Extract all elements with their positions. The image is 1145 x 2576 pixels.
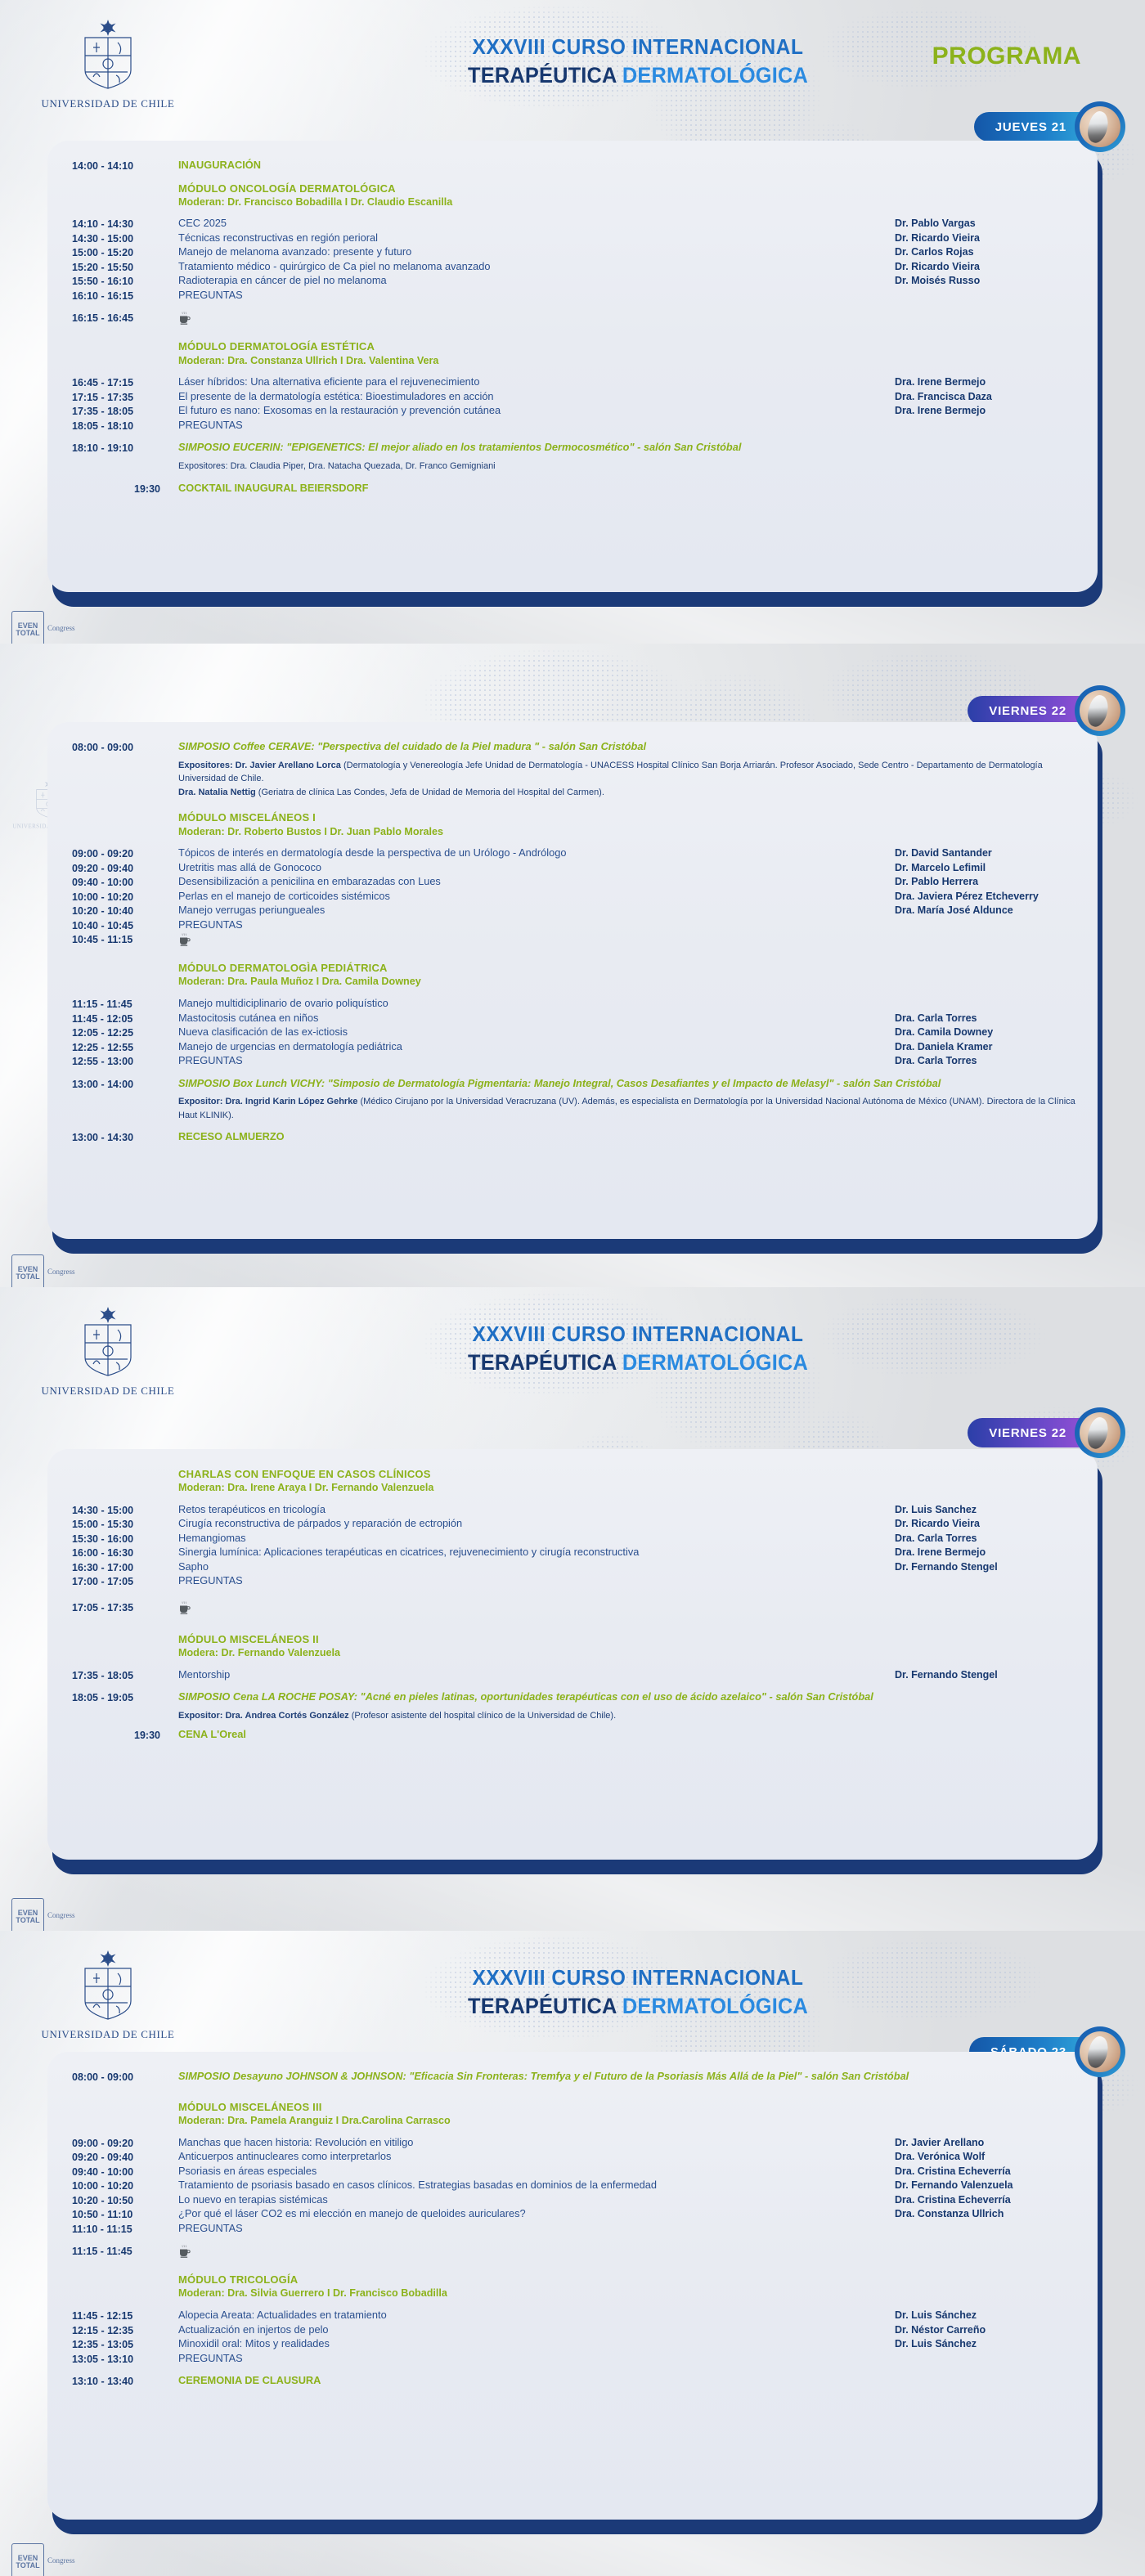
schedule-row: 19:30 COCKTAIL INAUGURAL BEIERSDORF: [72, 482, 1076, 496]
row-body: Sinergia lumínica: Aplicaciones terapéut…: [168, 1546, 888, 1560]
row-time: 10:00 - 10:20: [72, 890, 168, 904]
row-body: Hemangiomas: [168, 1532, 888, 1546]
talk-title: Uretritis mas allá de Gonococo: [178, 861, 888, 875]
row-time: [72, 1632, 168, 1633]
schedule-row: 14:10 - 14:30 CEC 2025 Dr. Pablo Vargas: [72, 217, 1076, 231]
row-time: 15:00 - 15:20: [72, 245, 168, 260]
talk-speaker: Dra. Cristina Echeverría: [888, 2193, 1076, 2207]
eventotal-logo-text: EVEN TOTAL: [12, 2555, 43, 2570]
row-time: 11:15 - 11:45: [72, 997, 168, 1012]
row-body: Manejo multidiciplinario de ovario poliq…: [168, 997, 888, 1011]
row-time: 19:30: [72, 1728, 168, 1743]
row-time: 14:10 - 14:30: [72, 217, 168, 231]
row-time: 13:10 - 13:40: [72, 2374, 168, 2389]
schedule-row: 17:35 - 18:05 Mentorship Dr. Fernando St…: [72, 1668, 1076, 1683]
course-title-dark: TERAPÉUTICA: [468, 1350, 617, 1375]
row-spacer: [72, 2261, 1076, 2273]
row-time: 17:00 - 17:05: [72, 1574, 168, 1589]
program-document: Universidad de Chile XXXVIII CURSO INTER…: [0, 0, 1145, 2576]
symposium-title: SIMPOSIO Cena LA ROCHE POSAY: "Acné en p…: [178, 1690, 1076, 1704]
schedule-row: 15:20 - 15:50 Tratamiento médico - quirú…: [72, 260, 1076, 275]
talk-speaker: Dra. Camila Downey: [888, 1025, 1076, 1039]
row-spacer: [72, 303, 1076, 311]
talk-title: Hemangiomas: [178, 1532, 888, 1546]
schedule-row: MÓDULO MISCELÁNEOS II Modera: Dr. Fernan…: [72, 1632, 1076, 1660]
talk-speaker: Dra. Irene Bermejo: [888, 1546, 1076, 1560]
row-highlight-title: COCKTAIL INAUGURAL BEIERSDORF: [178, 482, 1076, 496]
row-time: 11:45 - 12:05: [72, 1012, 168, 1026]
course-title-dark: TERAPÉUTICA: [468, 63, 617, 88]
talk-speaker: Dra. Carla Torres: [888, 1012, 1076, 1025]
schedule-row: 13:10 - 13:40 CEREMONIA DE CLAUSURA: [72, 2374, 1076, 2389]
row-spacer: [72, 1660, 1076, 1668]
course-title-line2: TERAPÉUTICA DERMATOLÓGICA: [423, 1350, 853, 1376]
row-time: 12:55 - 13:00: [72, 1054, 168, 1069]
row-spacer: [72, 1122, 1076, 1130]
row-spacer: [72, 1495, 1076, 1503]
schedule-row: 14:00 - 14:10 INAUGURACIÓN: [72, 159, 1076, 173]
shield-icon: [77, 18, 139, 93]
row-time: 15:30 - 16:00: [72, 1532, 168, 1546]
course-title-line1: XXXVIII CURSO INTERNACIONAL: [423, 1322, 853, 1347]
university-name: Universidad de Chile: [26, 2028, 190, 2041]
symposium-details: Expositores: Dra. Claudia Piper, Dra. Na…: [178, 460, 1076, 473]
symposium-title: SIMPOSIO EUCERIN: "EPIGENETICS: El mejor…: [178, 441, 1076, 455]
row-spacer: [72, 1682, 1076, 1690]
talk-title: Lo nuevo en terapias sistémicas: [178, 2193, 888, 2207]
schedule-row: CHARLAS CON ENFOQUE EN CASOS CLÍNICOS Mo…: [72, 1467, 1076, 1495]
row-body: RECESO ALMUERZO: [168, 1130, 1076, 1144]
schedule-row: 11:45 - 12:15 Alopecia Areata: Actualida…: [72, 2309, 1076, 2323]
schedule-row: 10:45 - 11:15: [72, 932, 1076, 949]
symposium-details: Expositor: Dra. Andrea Cortés González (…: [178, 1709, 1076, 1723]
row-spacer: [72, 2236, 1076, 2244]
eventotal-congress-logo: EVEN TOTAL Congress: [11, 1898, 90, 1919]
course-title-light: DERMATOLÓGICA: [622, 63, 808, 88]
talk-speaker: Dr. Ricardo Vieira: [888, 260, 1076, 274]
schedule-row: 15:00 - 15:30 Cirugía reconstructiva de …: [72, 1517, 1076, 1532]
talk-title: Minoxidil oral: Mitos y realidades: [178, 2337, 888, 2351]
schedule-rows: 08:00 - 09:00 SIMPOSIO Coffee CERAVE: "P…: [72, 740, 1076, 1145]
talk-speaker: Dr. Marcelo Lefimil: [888, 861, 1076, 875]
talk-speaker: Dr. Moisés Russo: [888, 274, 1076, 288]
symposium-title: SIMPOSIO Box Lunch VICHY: "Simposio de D…: [178, 1077, 1076, 1091]
schedule-row: 10:40 - 10:45 PREGUNTAS: [72, 918, 1076, 933]
course-title-line1: XXXVIII CURSO INTERNACIONAL: [423, 34, 853, 60]
module-name: MÓDULO TRICOLOGÍA: [178, 2273, 1076, 2287]
university-crest: Universidad de Chile: [26, 18, 190, 110]
schedule-row: 09:20 - 09:40 Uretritis mas allá de Gono…: [72, 861, 1076, 876]
row-time: [72, 961, 168, 962]
row-body: Psoriasis en áreas especiales: [168, 2165, 888, 2179]
row-body: El futuro es nano: Exosomas en la restau…: [168, 404, 888, 418]
row-coffee-break: [168, 2244, 1076, 2261]
row-body: Técnicas reconstructivas en región perio…: [168, 231, 888, 245]
talk-title: Tratamiento de psoriasis basado en casos…: [178, 2179, 888, 2192]
module-moderators: Moderan: Dra. Constanza Ullrich I Dra. V…: [178, 354, 1076, 368]
eventotal-logo-box: EVEN TOTAL: [11, 1254, 44, 1287]
row-body: CENA L'Oreal: [168, 1728, 1076, 1742]
coffee-cup-icon: [178, 933, 191, 947]
row-highlight-title: RECESO ALMUERZO: [178, 1130, 1076, 1144]
row-body: Mastocitosis cutánea en niños: [168, 1012, 888, 1025]
talk-speaker: Dr. Luis Sánchez: [888, 2309, 1076, 2322]
talk-title: ¿Por qué el láser CO2 es mi elección en …: [178, 2207, 888, 2221]
row-body: Manejo verrugas periungueales: [168, 904, 888, 918]
row-time: 09:00 - 09:20: [72, 2136, 168, 2151]
module-moderators: Modera: Dr. Fernando Valenzuela: [178, 1646, 1076, 1660]
module-name: MÓDULO MISCELÁNEOS II: [178, 1632, 1076, 1646]
course-title-line2: TERAPÉUTICA DERMATOLÓGICA: [423, 63, 853, 88]
row-time: 12:25 - 12:55: [72, 1040, 168, 1055]
talk-speaker: Dr. Pablo Vargas: [888, 217, 1076, 231]
schedule-row: 17:00 - 17:05 PREGUNTAS: [72, 1574, 1076, 1589]
day-photo-bubble: [1075, 101, 1125, 152]
program-page-1: Universidad de Chile XXXVIII CURSO INTER…: [0, 0, 1145, 644]
row-time: 10:50 - 11:10: [72, 2207, 168, 2222]
module-name: MÓDULO ONCOLOGÍA DERMATOLÓGICA: [178, 182, 1076, 195]
module-block: MÓDULO TRICOLOGÍA Moderan: Dra. Silvia G…: [168, 2273, 1076, 2300]
row-spacer: [72, 2089, 1076, 2100]
row-body: Minoxidil oral: Mitos y realidades: [168, 2337, 888, 2351]
schedule-row: 11:45 - 12:05 Mastocitosis cutánea en ni…: [72, 1012, 1076, 1026]
schedule-row: 15:50 - 16:10 Radioterapia en cáncer de …: [72, 274, 1076, 289]
row-body: Manejo de urgencias en dermatología pedi…: [168, 1040, 888, 1054]
schedule-row: 10:50 - 11:10 ¿Por qué el láser CO2 es m…: [72, 2207, 1076, 2222]
schedule-row: 12:35 - 13:05 Minoxidil oral: Mitos y re…: [72, 2337, 1076, 2352]
talk-title: Perlas en el manejo de corticoides sisté…: [178, 890, 888, 904]
module-moderators: Moderan: Dra. Pamela Aranguiz I Dra.Caro…: [178, 2114, 1076, 2128]
talk-title: PREGUNTAS: [178, 918, 888, 932]
row-body: Lo nuevo en terapias sistémicas: [168, 2193, 888, 2207]
eventotal-congress-logo: EVEN TOTAL Congress: [11, 611, 90, 632]
row-spacer: [72, 1589, 1076, 1600]
schedule-card: 08:00 - 09:00 SIMPOSIO Coffee CERAVE: "P…: [47, 722, 1098, 1239]
row-time: 14:30 - 15:00: [72, 231, 168, 246]
symposium-block: SIMPOSIO EUCERIN: "EPIGENETICS: El mejor…: [168, 441, 1076, 473]
schedule-row: 11:10 - 11:15 PREGUNTAS: [72, 2222, 1076, 2237]
row-spacer: [72, 949, 1076, 961]
symposium-title: SIMPOSIO Coffee CERAVE: "Perspectiva del…: [178, 740, 1076, 754]
row-time: 18:05 - 18:10: [72, 419, 168, 433]
module-moderators: Moderan: Dra. Paula Muñoz I Dra. Camila …: [178, 975, 1076, 989]
row-spacer: [72, 989, 1076, 997]
talk-speaker: Dra. Cristina Echeverría: [888, 2165, 1076, 2179]
row-body: Radioterapia en cáncer de piel no melano…: [168, 274, 888, 288]
talk-title: Mentorship: [178, 1668, 888, 1682]
congress-logo-text: Congress: [47, 1268, 90, 1276]
course-title-block: XXXVIII CURSO INTERNACIONAL TERAPÉUTICA …: [409, 34, 867, 88]
row-highlight-title: CENA L'Oreal: [178, 1728, 1076, 1742]
module-moderators: Moderan: Dr. Francisco Bobadilla I Dr. C…: [178, 195, 1076, 209]
row-time: 11:45 - 12:15: [72, 2309, 168, 2323]
module-block: MÓDULO DERMATOLOGÌA PEDIÁTRICA Moderan: …: [168, 961, 1076, 989]
row-time: [72, 2100, 168, 2101]
schedule-card: CHARLAS CON ENFOQUE EN CASOS CLÍNICOS Mo…: [47, 1449, 1098, 1860]
row-spacer: [72, 2300, 1076, 2309]
talk-title: PREGUNTAS: [178, 2222, 888, 2236]
row-spacer: [72, 799, 1076, 810]
eventotal-logo-box: EVEN TOTAL: [11, 2543, 44, 2576]
row-time: 16:10 - 16:15: [72, 289, 168, 303]
row-time: [72, 339, 168, 340]
schedule-row: 09:00 - 09:20 Tópicos de interés en derm…: [72, 846, 1076, 861]
talk-title: Cirugía reconstructiva de párpados y rep…: [178, 1517, 888, 1531]
talk-title: Manejo de melanoma avanzado: presente y …: [178, 245, 888, 259]
symposium-details: Expositores: Dr. Javier Arellano Lorca (…: [178, 759, 1076, 800]
row-time: 17:35 - 18:05: [72, 404, 168, 419]
talk-title: Láser híbridos: Una alternativa eficient…: [178, 375, 888, 389]
row-spacer: [72, 367, 1076, 375]
schedule-row: 09:00 - 09:20 Manchas que hacen historia…: [72, 2136, 1076, 2151]
shield-icon: [77, 1305, 139, 1380]
module-block: MÓDULO MISCELÁNEOS II Modera: Dr. Fernan…: [168, 1632, 1076, 1660]
schedule-row: 12:05 - 12:25 Nueva clasificación de las…: [72, 1025, 1076, 1040]
talk-speaker: Dr. Javier Arellano: [888, 2136, 1076, 2150]
row-time: 16:30 - 17:00: [72, 1560, 168, 1575]
row-spacer: [72, 2366, 1076, 2374]
row-time: 09:40 - 10:00: [72, 2165, 168, 2179]
row-time: 09:20 - 09:40: [72, 2150, 168, 2165]
row-spacer: [72, 433, 1076, 441]
row-body: CEREMONIA DE CLAUSURA: [168, 2374, 1076, 2388]
row-time: 10:45 - 11:15: [72, 932, 168, 947]
row-time: 08:00 - 09:00: [72, 740, 168, 755]
talk-speaker: Dra. Francisca Daza: [888, 390, 1076, 404]
talk-speaker: Dra. Irene Bermejo: [888, 404, 1076, 418]
schedule-row: 18:05 - 19:05 SIMPOSIO Cena LA ROCHE POS…: [72, 1690, 1076, 1722]
eventotal-congress-logo: EVEN TOTAL Congress: [11, 1254, 90, 1276]
talk-title: Psoriasis en áreas especiales: [178, 2165, 888, 2179]
row-body: El presente de la dermatología estética:…: [168, 390, 888, 404]
schedule-row: 13:05 - 13:10 PREGUNTAS: [72, 2352, 1076, 2367]
eventotal-logo-text: EVEN TOTAL: [12, 1266, 43, 1281]
row-body: Alopecia Areata: Actualidades en tratami…: [168, 2309, 888, 2322]
schedule-row: MÓDULO MISCELÁNEOS I Moderan: Dr. Robert…: [72, 810, 1076, 838]
schedule-row: MÓDULO ONCOLOGÍA DERMATOLÓGICA Moderan: …: [72, 182, 1076, 209]
eventotal-logo-text: EVEN TOTAL: [12, 1910, 43, 1925]
course-title-light: DERMATOLÓGICA: [622, 1994, 808, 2018]
talk-speaker: Dr. Luis Sanchez: [888, 1503, 1076, 1517]
symposium-block: SIMPOSIO Desayuno JOHNSON & JOHNSON: "Ef…: [168, 2070, 1076, 2089]
talk-title: Manejo verrugas periungueales: [178, 904, 888, 918]
row-body: Anticuerpos antinucleares como interpret…: [168, 2150, 888, 2164]
row-time: 13:05 - 13:10: [72, 2352, 168, 2367]
talk-title: PREGUNTAS: [178, 1054, 888, 1068]
schedule-row: 11:15 - 11:45 Manejo multidiciplinario d…: [72, 997, 1076, 1012]
schedule-row: 18:10 - 19:10 SIMPOSIO EUCERIN: "EPIGENE…: [72, 441, 1076, 473]
coffee-cup-icon: [178, 2245, 191, 2259]
course-title-line1: XXXVIII CURSO INTERNACIONAL: [423, 1965, 853, 1990]
row-time: [72, 2273, 168, 2273]
course-title-dark: TERAPÉUTICA: [468, 1994, 617, 2018]
row-body: Manejo de melanoma avanzado: presente y …: [168, 245, 888, 259]
row-body: Desensibilización a penicilina en embara…: [168, 875, 888, 889]
shield-icon: [77, 1949, 139, 2024]
schedule-rows: 08:00 - 09:00 SIMPOSIO Desayuno JOHNSON …: [72, 2070, 1076, 2389]
schedule-row: 10:20 - 10:40 Manejo verrugas periunguea…: [72, 904, 1076, 918]
talk-speaker: Dr. Ricardo Vieira: [888, 231, 1076, 245]
row-coffee-break: [168, 1600, 1076, 1618]
row-body: PREGUNTAS: [168, 419, 888, 433]
schedule-row: 10:00 - 10:20 Tratamiento de psoriasis b…: [72, 2179, 1076, 2193]
row-spacer: [72, 173, 1076, 182]
schedule-row: 12:15 - 12:35 Actualización en injertos …: [72, 2323, 1076, 2338]
module-block: MÓDULO MISCELÁNEOS III Moderan: Dra. Pam…: [168, 2100, 1076, 2128]
talk-title: Sinergia lumínica: Aplicaciones terapéut…: [178, 1546, 888, 1560]
talk-speaker: Dr. Carlos Rojas: [888, 245, 1076, 259]
row-time: [72, 810, 168, 811]
row-body: Perlas en el manejo de corticoides sisté…: [168, 890, 888, 904]
row-time: 12:15 - 12:35: [72, 2323, 168, 2338]
row-body: Cirugía reconstructiva de párpados y rep…: [168, 1517, 888, 1531]
schedule-row: 08:00 - 09:00 SIMPOSIO Desayuno JOHNSON …: [72, 2070, 1076, 2089]
coffee-cup-icon: [178, 312, 191, 325]
row-time: 14:00 - 14:10: [72, 159, 168, 173]
schedule-row: 15:00 - 15:20 Manejo de melanoma avanzad…: [72, 245, 1076, 260]
row-time: 17:05 - 17:35: [72, 1600, 168, 1615]
row-time: 17:15 - 17:35: [72, 390, 168, 405]
row-time: 10:40 - 10:45: [72, 918, 168, 933]
talk-title: Mastocitosis cutánea en niños: [178, 1012, 888, 1025]
talk-title: Nueva clasificación de las ex-ictiosis: [178, 1025, 888, 1039]
talk-speaker: Dr. Pablo Herrera: [888, 875, 1076, 889]
row-time: 15:20 - 15:50: [72, 260, 168, 275]
row-time: 11:10 - 11:15: [72, 2222, 168, 2237]
program-page-3: Universidad de Chile XXXVIII CURSO INTER…: [0, 1287, 1145, 1931]
row-spacer: [72, 2128, 1076, 2136]
course-title-light: DERMATOLÓGICA: [622, 1350, 808, 1375]
schedule-row: MÓDULO DERMATOLOGÌA PEDIÁTRICA Moderan: …: [72, 961, 1076, 989]
row-body: ¿Por qué el láser CO2 es mi elección en …: [168, 2207, 888, 2221]
schedule-row: 17:35 - 18:05 El futuro es nano: Exosoma…: [72, 404, 1076, 419]
symposium-block: SIMPOSIO Coffee CERAVE: "Perspectiva del…: [168, 740, 1076, 799]
talk-title: Manejo multidiciplinario de ovario poliq…: [178, 997, 888, 1011]
module-moderators: Moderan: Dr. Roberto Bustos I Dr. Juan P…: [178, 825, 1076, 839]
schedule-rows: CHARLAS CON ENFOQUE EN CASOS CLÍNICOS Mo…: [72, 1467, 1076, 1742]
schedule-row: 16:30 - 17:00 Sapho Dr. Fernando Stengel: [72, 1560, 1076, 1575]
university-crest: Universidad de Chile: [26, 1305, 190, 1398]
schedule-row: 14:30 - 15:00 Retos terapéuticos en tric…: [72, 1503, 1076, 1518]
congress-logo-text: Congress: [47, 1911, 90, 1919]
schedule-row: 13:00 - 14:00 SIMPOSIO Box Lunch VICHY: …: [72, 1077, 1076, 1123]
university-name: Universidad de Chile: [26, 1384, 190, 1398]
module-moderators: Moderan: Dra. Silvia Guerrero I Dr. Fran…: [178, 2287, 1076, 2300]
schedule-rows: 14:00 - 14:10 INAUGURACIÓN MÓDULO ONCOLO…: [72, 159, 1076, 496]
schedule-row: 17:05 - 17:35: [72, 1600, 1076, 1618]
university-crest: Universidad de Chile: [26, 1949, 190, 2041]
row-time: 09:00 - 09:20: [72, 846, 168, 861]
schedule-row: MÓDULO DERMATOLOGÍA ESTÉTICA Moderan: Dr…: [72, 339, 1076, 367]
schedule-row: 11:15 - 11:45: [72, 2244, 1076, 2261]
schedule-row: 17:15 - 17:35 El presente de la dermatol…: [72, 390, 1076, 405]
row-time: [72, 1467, 168, 1468]
row-time: 10:20 - 10:40: [72, 904, 168, 918]
row-body: Manchas que hacen historia: Revolución e…: [168, 2136, 888, 2150]
talk-title: El presente de la dermatología estética:…: [178, 390, 888, 404]
row-body: COCKTAIL INAUGURAL BEIERSDORF: [168, 482, 1076, 496]
eventotal-logo-text: EVEN TOTAL: [12, 622, 43, 638]
coffee-cup-icon: [178, 1601, 191, 1615]
row-body: PREGUNTAS: [168, 1574, 888, 1588]
row-body: Tópicos de interés en dermatología desde…: [168, 846, 888, 860]
schedule-card: 08:00 - 09:00 SIMPOSIO Desayuno JOHNSON …: [47, 2052, 1098, 2520]
talk-speaker: Dr. Fernando Valenzuela: [888, 2179, 1076, 2192]
row-time: 16:15 - 16:45: [72, 311, 168, 325]
talk-speaker: Dr. Fernando Stengel: [888, 1668, 1076, 1682]
row-body: Mentorship: [168, 1668, 888, 1682]
row-coffee-break: [168, 311, 1076, 328]
schedule-row: 15:30 - 16:00 Hemangiomas Dra. Carla Tor…: [72, 1532, 1076, 1546]
course-title-line2: TERAPÉUTICA DERMATOLÓGICA: [423, 1994, 853, 2019]
schedule-row: 19:30 CENA L'Oreal: [72, 1728, 1076, 1743]
row-spacer: [72, 1069, 1076, 1077]
module-name: MÓDULO DERMATOLOGÍA ESTÉTICA: [178, 339, 1076, 353]
module-block: MÓDULO ONCOLOGÍA DERMATOLÓGICA Moderan: …: [168, 182, 1076, 209]
module-name: MÓDULO MISCELÁNEOS I: [178, 810, 1076, 824]
schedule-row: 10:00 - 10:20 Perlas en el manejo de cor…: [72, 890, 1076, 904]
row-time: 09:20 - 09:40: [72, 861, 168, 876]
row-body: INAUGURACIÓN: [168, 159, 1076, 173]
schedule-row: 08:00 - 09:00 SIMPOSIO Coffee CERAVE: "P…: [72, 740, 1076, 799]
row-spacer: [72, 209, 1076, 217]
university-name: Universidad de Chile: [26, 97, 190, 110]
talk-speaker: Dra. Constanza Ullrich: [888, 2207, 1076, 2221]
eventotal-logo-box: EVEN TOTAL: [11, 611, 44, 644]
day-photo-bubble: [1075, 2026, 1125, 2077]
row-time: 13:00 - 14:30: [72, 1130, 168, 1145]
symposium-block: SIMPOSIO Box Lunch VICHY: "Simposio de D…: [168, 1077, 1076, 1123]
row-highlight-title: INAUGURACIÓN: [178, 159, 1076, 173]
talk-title: PREGUNTAS: [178, 419, 888, 433]
day-photo-bubble: [1075, 685, 1125, 736]
schedule-row: 09:40 - 10:00 Desensibilización a penici…: [72, 875, 1076, 890]
schedule-row: 10:20 - 10:50 Lo nuevo en terapias sisté…: [72, 2193, 1076, 2208]
row-body: PREGUNTAS: [168, 2352, 888, 2366]
talk-speaker: Dr. David Santander: [888, 846, 1076, 860]
eventotal-congress-logo: EVEN TOTAL Congress: [11, 2543, 90, 2565]
row-highlight-title: CEREMONIA DE CLAUSURA: [178, 2374, 1076, 2388]
row-time: 15:00 - 15:30: [72, 1517, 168, 1532]
row-spacer: [72, 328, 1076, 339]
talk-speaker: Dra. Javiera Pérez Etcheverry: [888, 890, 1076, 904]
talk-title: Radioterapia en cáncer de piel no melano…: [178, 274, 888, 288]
talk-speaker: Dr. Luis Sánchez: [888, 2337, 1076, 2351]
course-title-block: XXXVIII CURSO INTERNACIONAL TERAPÉUTICA …: [409, 1322, 867, 1376]
row-body: Actualización en injertos de pelo: [168, 2323, 888, 2337]
row-time: 10:00 - 10:20: [72, 2179, 168, 2193]
program-page-4: Universidad de Chile XXXVIII CURSO INTER…: [0, 1931, 1145, 2576]
row-time: 19:30: [72, 482, 168, 496]
schedule-row: MÓDULO TRICOLOGÍA Moderan: Dra. Silvia G…: [72, 2273, 1076, 2300]
talk-title: PREGUNTAS: [178, 289, 888, 303]
row-spacer: [72, 1618, 1076, 1632]
row-time: 12:35 - 13:05: [72, 2337, 168, 2352]
schedule-row: 13:00 - 14:30 RECESO ALMUERZO: [72, 1130, 1076, 1145]
row-time: 16:00 - 16:30: [72, 1546, 168, 1560]
symposium-details: Expositor: Dra. Ingrid Karin López Gehrk…: [178, 1095, 1076, 1122]
schedule-row: 16:15 - 16:45: [72, 311, 1076, 328]
talk-speaker: Dra. María José Aldunce: [888, 904, 1076, 918]
row-body: Tratamiento de psoriasis basado en casos…: [168, 2179, 888, 2192]
eventotal-logo-box: EVEN TOTAL: [11, 1898, 44, 1931]
row-body: Uretritis mas allá de Gonococo: [168, 861, 888, 875]
talk-speaker: Dr. Ricardo Vieira: [888, 1517, 1076, 1531]
row-spacer: [72, 473, 1076, 482]
congress-logo-text: Congress: [47, 624, 90, 632]
row-time: 18:10 - 19:10: [72, 441, 168, 456]
row-body: PREGUNTAS: [168, 918, 888, 932]
